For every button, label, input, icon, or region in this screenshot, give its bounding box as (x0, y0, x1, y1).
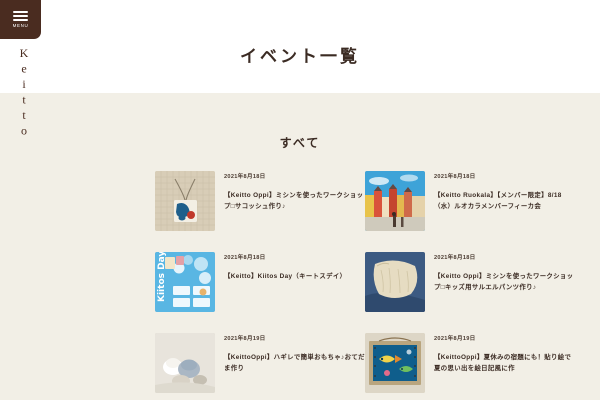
event-card[interactable]: 2021年8月19日 【KeittoOppi】ハギレで簡単おもちゃ♪おてだま作り (155, 333, 365, 393)
event-date: 2021年8月18日 (434, 253, 575, 261)
event-thumbnail (155, 171, 215, 231)
event-thumbnail (365, 252, 425, 312)
event-thumbnail (155, 333, 215, 393)
event-thumbnail (365, 171, 425, 231)
event-card-body: 2021年8月19日 【KeittoOppi】夏休みの宿題にも！貼り絵で夏の思い… (434, 333, 575, 393)
event-card-body: 2021年8月18日 【Keitto】Kiitos Day（キートスデイ） (224, 252, 365, 312)
event-card-grid: 2021年8月18日 【Keitto Oppi】ミシンを使ったワークショップ□サ… (155, 171, 470, 393)
event-card[interactable]: Kiitos Day 2021年8月18日 【Keitto】Kiitos Day… (155, 252, 365, 312)
svg-text:Kiitos Day: Kiitos Day (157, 252, 167, 302)
event-title: 【KeittoOppi】夏休みの宿題にも！貼り絵で夏の思い出を絵日記風に作 (434, 352, 575, 374)
event-date: 2021年8月18日 (434, 172, 575, 180)
event-title: 【Keitto Ruokala】【メンバー限定】8/18（水）ルオカラメンバーフ… (434, 190, 575, 212)
event-card[interactable]: 2021年8月19日 【KeittoOppi】夏休みの宿題にも！貼り絵で夏の思い… (365, 333, 575, 393)
event-thumbnail (365, 333, 425, 393)
main-content: すべて (0, 93, 600, 400)
event-card[interactable]: 2021年8月18日 【Keitto Oppi】ミシンを使ったワークショップ□サ… (155, 171, 365, 231)
event-date: 2021年8月18日 (224, 253, 365, 261)
event-title: 【Keitto Oppi】ミシンを使ったワークショップ□サコッシュ作り♪ (224, 190, 365, 212)
event-date: 2021年8月18日 (224, 172, 365, 180)
event-card-body: 2021年8月18日 【Keitto Oppi】ミシンを使ったワークショップ□サ… (224, 171, 365, 231)
site-header: イベント一覧 (0, 0, 600, 93)
event-card-body: 2021年8月18日 【Keitto Oppi】ミシンを使ったワークショップ□キ… (434, 252, 575, 312)
event-title: 【Keitto】Kiitos Day（キートスデイ） (224, 271, 365, 282)
page-root: イベント一覧 MENU Keitto すべて (0, 0, 600, 400)
event-date: 2021年8月19日 (434, 334, 575, 342)
section-heading: すべて (0, 93, 600, 151)
event-card-body: 2021年8月19日 【KeittoOppi】ハギレで簡単おもちゃ♪おてだま作り (224, 333, 365, 393)
event-card[interactable]: 2021年8月18日 【Keitto Ruokala】【メンバー限定】8/18（… (365, 171, 575, 231)
menu-button[interactable]: MENU (0, 0, 41, 39)
hamburger-icon (13, 11, 28, 21)
event-thumbnail: Kiitos Day (155, 252, 215, 312)
event-card-body: 2021年8月18日 【Keitto Ruokala】【メンバー限定】8/18（… (434, 171, 575, 231)
page-title: イベント一覧 (0, 42, 600, 67)
event-card[interactable]: 2021年8月18日 【Keitto Oppi】ミシンを使ったワークショップ□キ… (365, 252, 575, 312)
event-title: 【KeittoOppi】ハギレで簡単おもちゃ♪おてだま作り (224, 352, 365, 374)
event-title: 【Keitto Oppi】ミシンを使ったワークショップ□キッズ用サルエルパンツ作… (434, 271, 575, 293)
event-date: 2021年8月19日 (224, 334, 365, 342)
menu-button-label: MENU (13, 23, 29, 29)
site-logo[interactable]: Keitto (9, 46, 31, 96)
